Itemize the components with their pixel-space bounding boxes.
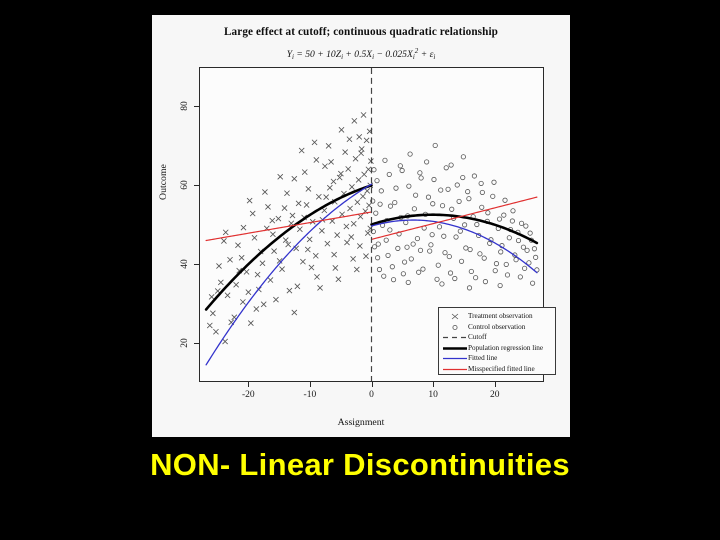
control-point xyxy=(426,195,430,199)
control-point xyxy=(387,172,391,176)
treatment-point xyxy=(312,140,317,145)
control-point xyxy=(432,177,436,181)
control-point xyxy=(375,256,379,260)
control-point xyxy=(430,232,434,236)
treatment-point xyxy=(273,297,278,302)
x-tick-mark xyxy=(433,382,434,387)
control-point xyxy=(374,211,378,215)
treatment-point xyxy=(300,259,305,264)
equation-term-x2: − 0.025X xyxy=(377,49,413,60)
treatment-point xyxy=(241,225,246,230)
treatment-point xyxy=(276,216,281,221)
control-point xyxy=(510,219,514,223)
x-tick-label: 0 xyxy=(369,390,374,400)
control-point xyxy=(478,252,482,256)
fitted-line-treatment xyxy=(206,184,371,365)
control-point xyxy=(448,271,452,275)
equation-term-x: + 0.5X xyxy=(345,49,372,60)
chart-equation-subtitle: Yi = 50 + 10Zi + 0.5Xi − 0.025Xi2 + εi xyxy=(152,47,570,61)
treatment-point xyxy=(227,257,232,262)
control-point xyxy=(401,272,405,276)
treatment-point xyxy=(297,227,302,232)
control-point xyxy=(419,176,423,180)
treatment-point xyxy=(332,252,337,257)
treatment-point xyxy=(354,267,359,272)
legend-item: Misspecified fitted line xyxy=(442,364,553,374)
treatment-point xyxy=(239,255,244,260)
x-tick-mark xyxy=(310,382,311,387)
equation-error: + ε xyxy=(421,49,434,60)
control-point xyxy=(511,209,515,213)
control-point xyxy=(377,267,381,271)
x-tick-mark xyxy=(495,382,496,387)
treatment-point xyxy=(282,205,287,210)
control-point xyxy=(400,168,404,172)
treatment-point xyxy=(265,204,270,209)
control-point xyxy=(444,166,448,170)
control-point xyxy=(492,180,496,184)
treatment-point xyxy=(319,228,324,233)
treatment-point xyxy=(357,134,362,139)
chart-legend: Treatment observationControl observation… xyxy=(438,307,556,375)
control-point xyxy=(528,231,532,235)
treatment-point xyxy=(337,175,342,180)
treatment-point xyxy=(313,253,318,258)
control-point xyxy=(482,256,486,260)
treatment-point xyxy=(363,254,368,259)
control-point xyxy=(503,198,507,202)
control-point xyxy=(467,286,471,290)
treatment-point xyxy=(368,159,373,164)
treatment-point xyxy=(295,284,300,289)
control-point xyxy=(412,207,416,211)
treatment-point xyxy=(223,339,228,344)
control-point xyxy=(439,188,443,192)
treatment-point xyxy=(270,218,275,223)
control-point xyxy=(405,245,409,249)
legend-label: Fitted line xyxy=(468,354,497,362)
treatment-point xyxy=(248,321,253,326)
treatment-point xyxy=(361,112,366,117)
treatment-point xyxy=(247,198,252,203)
treatment-point xyxy=(339,127,344,132)
treatment-point xyxy=(255,272,260,277)
legend-label: Control observation xyxy=(468,323,525,331)
control-point xyxy=(404,220,408,224)
control-point xyxy=(521,245,525,249)
treatment-point xyxy=(347,206,352,211)
control-point xyxy=(516,238,520,242)
control-point xyxy=(464,246,468,250)
treatment-point xyxy=(327,185,332,190)
legend-label: Treatment observation xyxy=(468,312,533,320)
treatment-point xyxy=(225,293,230,298)
control-point xyxy=(469,269,473,273)
legend-item: Control observation xyxy=(442,322,553,332)
treatment-point xyxy=(324,195,329,200)
treatment-point xyxy=(235,243,240,248)
solid-line xyxy=(442,364,468,374)
control-point xyxy=(491,194,495,198)
control-point xyxy=(486,211,490,215)
control-point xyxy=(424,160,428,164)
treatment-point xyxy=(351,256,356,261)
treatment-point xyxy=(246,290,251,295)
treatment-point xyxy=(358,214,363,219)
control-point xyxy=(418,171,422,175)
control-point xyxy=(394,186,398,190)
cross-marker xyxy=(442,311,468,321)
control-point xyxy=(428,249,432,253)
legend-item: Fitted line xyxy=(442,353,553,363)
treatment-point xyxy=(353,156,358,161)
x-tick-label: -10 xyxy=(304,390,317,400)
treatment-point xyxy=(268,277,273,282)
treatment-point xyxy=(292,310,297,315)
control-point xyxy=(454,235,458,239)
equation-error-sub: i xyxy=(433,53,435,61)
legend-item: Cutoff xyxy=(442,332,553,342)
control-point xyxy=(493,268,497,272)
legend-label: Population regression line xyxy=(468,344,543,352)
equation-rhs: = 50 + 10Z xyxy=(296,49,341,60)
treatment-point xyxy=(305,247,310,252)
x-tick-label: 10 xyxy=(428,390,438,400)
control-point xyxy=(415,236,419,240)
x-tick-mark xyxy=(248,382,249,387)
control-point xyxy=(533,255,537,259)
control-point xyxy=(502,213,506,217)
treatment-point xyxy=(366,203,371,208)
control-point xyxy=(440,204,444,208)
treatment-point xyxy=(343,150,348,155)
treatment-point xyxy=(261,302,266,307)
control-point xyxy=(384,238,388,242)
control-point xyxy=(480,190,484,194)
control-point xyxy=(379,189,383,193)
control-point xyxy=(407,184,411,188)
control-point xyxy=(382,274,386,278)
slide-root: Large effect at cutoff; continuous quadr… xyxy=(0,0,720,540)
control-point xyxy=(505,273,509,277)
control-point xyxy=(388,204,392,208)
control-point xyxy=(458,229,462,233)
treatment-point xyxy=(326,143,331,148)
control-point xyxy=(418,248,422,252)
control-point xyxy=(518,275,522,279)
control-point xyxy=(408,152,412,156)
treatment-point xyxy=(356,177,361,182)
equation-lhs-sub: i xyxy=(292,53,294,61)
legend-label: Misspecified fitted line xyxy=(468,365,535,373)
control-point xyxy=(402,260,406,264)
thick-line xyxy=(442,343,468,353)
solid-line xyxy=(442,353,468,363)
y-tick-mark xyxy=(194,264,199,265)
treatment-point xyxy=(234,282,239,287)
treatment-point xyxy=(307,237,312,242)
treatment-point xyxy=(250,211,255,216)
control-point xyxy=(390,265,394,269)
treatment-point xyxy=(279,267,284,272)
control-point xyxy=(411,242,415,246)
control-point xyxy=(446,187,450,191)
control-point xyxy=(472,174,476,178)
control-point xyxy=(522,266,526,270)
x-tick-label: -20 xyxy=(242,390,255,400)
treatment-point xyxy=(314,157,319,162)
control-point xyxy=(519,221,523,225)
control-point xyxy=(498,283,502,287)
treatment-point xyxy=(302,169,307,174)
treatment-point xyxy=(244,269,249,274)
treatment-point xyxy=(359,151,364,156)
treatment-point xyxy=(338,171,343,176)
treatment-point xyxy=(296,201,301,206)
control-point xyxy=(480,205,484,209)
treatment-point xyxy=(314,274,319,279)
control-point xyxy=(435,277,439,281)
control-point xyxy=(440,282,444,286)
treatment-point xyxy=(299,148,304,153)
control-point xyxy=(455,183,459,187)
control-point xyxy=(437,225,441,229)
control-point xyxy=(393,200,397,204)
treatment-point xyxy=(306,186,311,191)
treatment-point xyxy=(349,184,354,189)
control-point xyxy=(372,168,376,172)
treatment-point xyxy=(316,194,321,199)
treatment-point xyxy=(346,166,351,171)
control-point xyxy=(388,228,392,232)
control-point xyxy=(457,199,461,203)
treatment-point xyxy=(328,159,333,164)
treatment-point xyxy=(333,265,338,270)
legend-item: Treatment observation xyxy=(442,311,553,321)
control-point xyxy=(431,202,435,206)
control-point xyxy=(429,243,433,247)
control-point xyxy=(409,257,413,261)
y-tick-mark xyxy=(194,185,199,186)
treatment-point xyxy=(352,118,357,123)
control-point xyxy=(378,202,382,206)
control-point xyxy=(391,277,395,281)
control-point xyxy=(532,247,536,251)
treatment-point xyxy=(331,179,336,184)
x-tick-mark xyxy=(372,382,373,387)
treatment-point xyxy=(360,194,365,199)
control-point xyxy=(497,217,501,221)
control-point xyxy=(494,261,498,265)
treatment-point xyxy=(349,234,354,239)
control-point xyxy=(433,143,437,147)
treatment-point xyxy=(317,285,322,290)
y-tick-label: 40 xyxy=(180,259,190,269)
control-point xyxy=(398,164,402,168)
y-axis-label: Outcome xyxy=(158,164,169,200)
control-point xyxy=(442,234,446,238)
treatment-point xyxy=(213,329,218,334)
control-point xyxy=(461,175,465,179)
treatment-point xyxy=(209,294,214,299)
treatment-point xyxy=(344,224,349,229)
chart-title: Large effect at cutoff; continuous quadr… xyxy=(152,26,570,38)
treatment-point xyxy=(278,174,283,179)
control-point xyxy=(530,281,534,285)
treatment-point xyxy=(365,231,370,236)
treatment-point xyxy=(270,232,275,237)
equation-z-sub: i xyxy=(341,53,343,61)
treatment-point xyxy=(254,306,259,311)
control-point xyxy=(473,276,477,280)
y-tick-mark xyxy=(194,343,199,344)
legend-label: Cutoff xyxy=(468,333,487,341)
control-point xyxy=(479,181,483,185)
treatment-point xyxy=(357,243,362,248)
control-point xyxy=(376,242,380,246)
treatment-point xyxy=(362,172,367,177)
x-tick-label: 20 xyxy=(490,390,500,400)
control-point xyxy=(525,248,529,252)
x-axis-label: Assignment xyxy=(152,417,570,428)
control-point xyxy=(453,276,457,280)
y-tick-mark xyxy=(194,106,199,107)
treatment-point xyxy=(287,288,292,293)
control-point xyxy=(416,270,420,274)
equation-x2-sup: 2 xyxy=(415,47,419,55)
circle-marker xyxy=(442,322,468,332)
y-tick-label: 20 xyxy=(180,338,190,348)
treatment-point xyxy=(252,235,257,240)
treatment-point xyxy=(351,221,356,226)
control-point xyxy=(449,163,453,167)
control-point xyxy=(465,189,469,193)
treatment-point xyxy=(355,200,360,205)
treatment-point xyxy=(292,176,297,181)
control-point xyxy=(459,259,463,263)
treatment-point xyxy=(207,323,212,328)
control-point xyxy=(447,254,451,258)
treatment-point xyxy=(366,167,371,172)
treatment-point xyxy=(272,249,277,254)
control-point xyxy=(413,193,417,197)
control-point xyxy=(450,207,454,211)
control-point xyxy=(396,246,400,250)
treatment-point xyxy=(290,213,295,218)
equation-x-sub: i xyxy=(372,53,374,61)
treatment-point xyxy=(335,232,340,237)
treatment-point xyxy=(336,277,341,282)
control-point xyxy=(383,158,387,162)
treatment-point xyxy=(216,263,221,268)
treatment-point xyxy=(284,191,289,196)
control-point xyxy=(483,279,487,283)
control-point xyxy=(443,250,447,254)
control-point xyxy=(421,267,425,271)
treatment-point xyxy=(322,164,327,169)
control-point xyxy=(375,178,379,182)
dashed-line xyxy=(442,332,468,342)
treatment-point xyxy=(260,261,265,266)
control-point xyxy=(386,253,390,257)
control-point xyxy=(467,196,471,200)
control-point xyxy=(468,247,472,251)
treatment-point xyxy=(347,137,352,142)
treatment-point xyxy=(262,189,267,194)
treatment-point xyxy=(325,241,330,246)
treatment-point xyxy=(223,230,228,235)
treatment-point xyxy=(240,299,245,304)
slide-caption: NON- Linear Discontinuities xyxy=(0,447,720,483)
control-point xyxy=(462,223,466,227)
control-point xyxy=(504,262,508,266)
treatment-point xyxy=(344,240,349,245)
control-point xyxy=(507,236,511,240)
treatment-point xyxy=(210,311,215,316)
y-tick-label: 60 xyxy=(180,180,190,190)
treatment-point xyxy=(365,188,370,193)
treatment-point xyxy=(218,280,223,285)
control-point xyxy=(406,280,410,284)
control-point xyxy=(461,155,465,159)
control-point xyxy=(475,222,479,226)
treatment-point xyxy=(221,238,226,243)
treatment-point xyxy=(304,202,309,207)
figure-panel: Large effect at cutoff; continuous quadr… xyxy=(152,15,570,437)
treatment-point xyxy=(309,265,314,270)
control-point xyxy=(524,224,528,228)
treatment-point xyxy=(364,138,369,143)
control-point xyxy=(499,250,503,254)
legend-item: Population regression line xyxy=(442,343,553,353)
control-point xyxy=(436,263,440,267)
y-tick-label: 80 xyxy=(180,102,190,112)
